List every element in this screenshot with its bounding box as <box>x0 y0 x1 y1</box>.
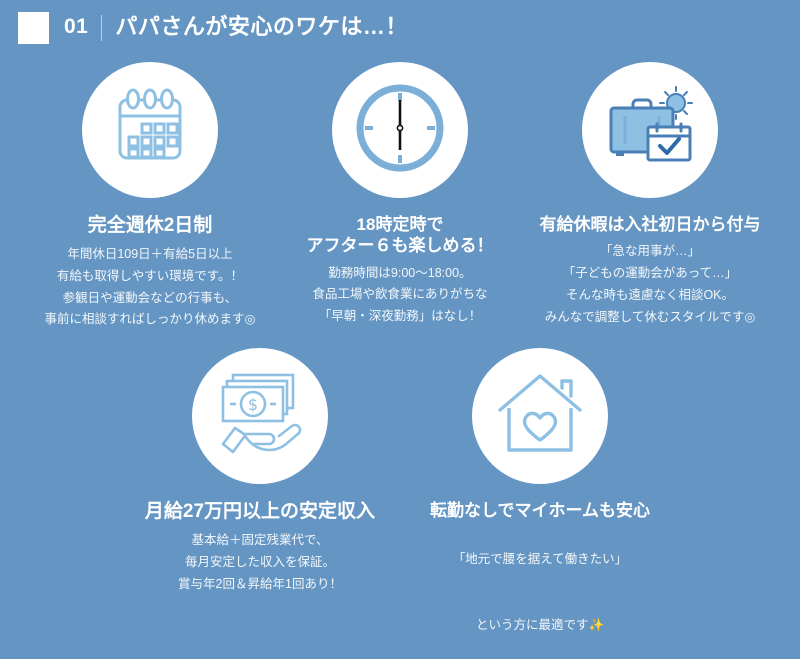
feature-card-4-body: 基本給＋固定残業代で、 毎月安定した収入を保証。 賞与年2回＆昇給年1回あり！ <box>178 530 342 596</box>
sparkle-icon: ✨ <box>588 618 604 632</box>
icon-circle-2 <box>332 62 468 198</box>
feature-card-1-body: 年間休日109日＋有給5日以上 有給も取得しやすい環境です。！ 参観日や運動会な… <box>45 244 256 332</box>
feature-card-3-body: 「急な用事が…」 「子どもの運動会があって…」 そんな時も遠慮なく相談OK。 み… <box>545 241 756 329</box>
feature-card-1-title: 完全週休2日制 <box>88 214 213 238</box>
feature-card-3: 有給休暇は入社初日から付与 「急な用事が…」 「子どもの運動会があって…」 そん… <box>525 62 775 331</box>
calendar-icon <box>107 85 193 176</box>
feature-card-5-title: 転勤なしでマイホームも安心 <box>430 500 650 521</box>
hand-money-icon: $ <box>213 367 307 466</box>
icon-circle-3 <box>582 62 718 198</box>
suitcase-sun-calendar-icon <box>604 82 696 179</box>
feature-row-top: 完全週休2日制 年間休日109日＋有給5日以上 有給も取得しやすい環境です。！ … <box>0 62 800 331</box>
feature-card-5-body-line2-wrap: という方に最適です✨ <box>453 593 627 637</box>
icon-circle-5 <box>472 348 608 484</box>
feature-card-2-title: 18時定時で アフター６も楽しめる！ <box>307 214 494 257</box>
feature-card-5-body-line2: という方に最適です <box>476 618 589 632</box>
page-title: パパさんが安心のワケは…！ <box>115 16 408 40</box>
icon-circle-4: $ <box>192 348 328 484</box>
header-number: 01 <box>64 16 88 39</box>
feature-card-1: 完全週休2日制 年間休日109日＋有給5日以上 有給も取得しやすい環境です。！ … <box>25 62 275 331</box>
feature-card-5: 転勤なしでマイホームも安心 「地元で腰を据えて働きたい」 という方に最適です✨ <box>400 348 680 659</box>
feature-card-2: 18時定時で アフター６も楽しめる！ 勤務時間は9:00〜18:00。 食品工場… <box>275 62 525 331</box>
header-marker-block <box>18 12 49 44</box>
feature-row-bottom: $ 月給27万円以上の安定収入 基本給＋固定残業代で、 毎月安定した収入を保証。… <box>0 348 800 659</box>
feature-card-2-body: 勤務時間は9:00〜18:00。 食品工場や飲食業にありがちな 「早朝・深夜勤務… <box>312 263 487 329</box>
header-divider <box>101 15 102 41</box>
page-header: 01 パパさんが安心のワケは…！ <box>0 0 800 55</box>
feature-card-3-title: 有給休暇は入社初日から付与 <box>540 214 761 235</box>
feature-card-4: $ 月給27万円以上の安定収入 基本給＋固定残業代で、 毎月安定した収入を保証。… <box>120 348 400 659</box>
svg-text:$: $ <box>248 395 258 414</box>
feature-card-5-body-line1: 「地元で腰を据えて働きたい」 <box>453 549 627 571</box>
clock-icon <box>350 78 450 183</box>
icon-circle-1 <box>82 62 218 198</box>
feature-card-4-title: 月給27万円以上の安定収入 <box>145 500 375 524</box>
feature-card-5-body: 「地元で腰を据えて働きたい」 という方に最適です✨ <box>453 527 627 658</box>
house-heart-icon <box>494 368 586 465</box>
